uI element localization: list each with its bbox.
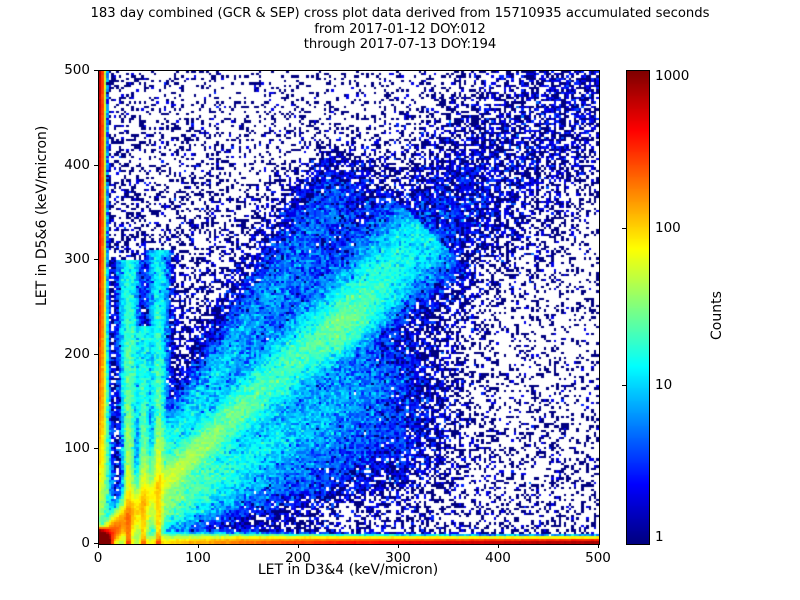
colorbar-tick-label: 10 (655, 377, 672, 393)
y-tick-mark (94, 448, 98, 449)
colorbar-tick-label: 1 (655, 529, 664, 545)
x-tick-mark (198, 544, 199, 548)
x-tick-mark (298, 544, 299, 548)
y-tick-mark (94, 165, 98, 166)
density-heatmap (99, 71, 599, 544)
figure-canvas: 183 day combined (GCR & SEP) cross plot … (0, 0, 800, 600)
colorbar-tick-label: 100 (655, 220, 681, 236)
title-line-3: through 2017-07-13 DOY:194 (0, 37, 800, 53)
colorbar-label: Counts (709, 291, 725, 340)
y-tick-mark (94, 70, 98, 71)
x-tick-mark (398, 544, 399, 548)
plot-area (98, 70, 600, 545)
x-axis-label: LET in D3&4 (keV/micron) (98, 562, 598, 578)
y-tick-mark (94, 543, 98, 544)
x-tick-mark (98, 544, 99, 548)
x-tick-mark (598, 544, 599, 548)
y-tick-label: 100 (38, 440, 90, 456)
colorbar-tick-mark (622, 385, 626, 386)
x-tick-mark (498, 544, 499, 548)
y-tick-label: 0 (38, 535, 90, 551)
colorbar-gradient (626, 70, 650, 545)
y-tick-mark (94, 259, 98, 260)
title-line-2: from 2017-01-12 DOY:012 (0, 22, 800, 38)
y-tick-label: 500 (38, 62, 90, 78)
y-tick-mark (94, 354, 98, 355)
title-line-1: 183 day combined (GCR & SEP) cross plot … (0, 6, 800, 22)
colorbar-tick-mark (622, 228, 626, 229)
y-tick-label: 200 (38, 346, 90, 362)
colorbar: 1101001000 (626, 70, 648, 543)
y-axis-label: LET in D5&6 (keV/micron) (34, 126, 50, 306)
colorbar-tick-label: 1000 (655, 68, 689, 84)
chart-title: 183 day combined (GCR & SEP) cross plot … (0, 6, 800, 53)
